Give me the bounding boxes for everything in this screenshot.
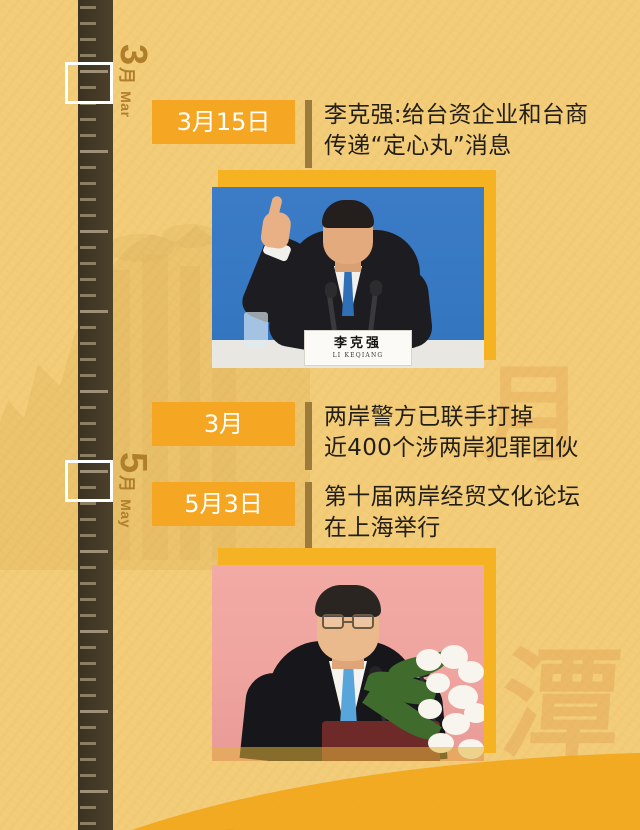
ruler-tick bbox=[80, 406, 96, 409]
ruler-tick bbox=[80, 598, 96, 601]
ruler-tick bbox=[80, 246, 96, 249]
month-label-may: 5 月 May bbox=[115, 452, 150, 528]
timeline-ruler-strip bbox=[78, 0, 113, 830]
yu-zhengsheng-podium-photo[interactable] bbox=[212, 565, 484, 761]
photo-block-1: 李克强 LI KEQIANG bbox=[196, 170, 496, 370]
eyeglass-lens-right bbox=[352, 614, 374, 629]
ruler-tick bbox=[80, 758, 96, 761]
calligraphy-glyph: 潭 bbox=[481, 640, 640, 772]
ruler-tick bbox=[80, 742, 96, 745]
month-en: Mar bbox=[115, 91, 136, 117]
month-cn: 月 bbox=[115, 475, 137, 492]
ruler-tick bbox=[80, 502, 96, 505]
month-label-march: 3 月 Mar bbox=[115, 44, 150, 118]
photo-bottom-band bbox=[212, 747, 484, 761]
ruler-tick bbox=[80, 422, 96, 425]
ruler-tick bbox=[80, 806, 96, 809]
ruler-tick bbox=[80, 326, 96, 329]
ruler-tick bbox=[80, 118, 96, 121]
orchid-bloom bbox=[416, 649, 442, 671]
ruler-tick bbox=[80, 438, 96, 441]
month-number: 5 bbox=[115, 452, 150, 472]
nameplate-chinese: 李克强 bbox=[334, 337, 382, 351]
ruler-tick bbox=[80, 342, 96, 345]
ruler-tick bbox=[80, 310, 108, 313]
water-glass bbox=[244, 312, 268, 348]
ruler-tick bbox=[80, 230, 108, 233]
ruler-tick bbox=[80, 38, 96, 41]
nameplate: 李克强 LI KEQIANG bbox=[304, 330, 412, 366]
nameplate-english: LI KEQIANG bbox=[333, 351, 384, 360]
ruler-tick bbox=[80, 390, 108, 393]
timeline-entry-2: 3月 两岸警方已联手打掉 近400个涉两岸犯罪团伙 bbox=[152, 402, 579, 470]
ruler-tick-marks bbox=[78, 0, 113, 830]
date-badge[interactable]: 3月 bbox=[152, 402, 295, 446]
microphone-head-left bbox=[325, 282, 337, 298]
li-keqiang-press-conference-photo[interactable]: 李克强 LI KEQIANG bbox=[212, 187, 484, 368]
photo-block-2 bbox=[196, 548, 496, 773]
ruler-tick bbox=[80, 166, 96, 169]
hair bbox=[315, 585, 381, 617]
ruler-tick bbox=[80, 790, 108, 793]
ruler-tick bbox=[80, 278, 96, 281]
month-number: 3 bbox=[115, 44, 150, 64]
ruler-tick bbox=[80, 678, 96, 681]
ruler-tick bbox=[80, 294, 96, 297]
entry-divider bbox=[305, 482, 312, 550]
ruler-tick bbox=[80, 518, 96, 521]
orchid-bloom bbox=[458, 661, 484, 683]
ruler-tick bbox=[80, 566, 96, 569]
ruler-tick bbox=[80, 454, 96, 457]
month-cn: 月 bbox=[115, 67, 137, 84]
entry-headline[interactable]: 第十届两岸经贸文化论坛 在上海举行 bbox=[324, 482, 580, 544]
ruler-tick bbox=[80, 710, 108, 713]
ruler-tick bbox=[80, 54, 96, 57]
entry-headline[interactable]: 李克强:给台资企业和台商 传递“定心丸”消息 bbox=[324, 100, 588, 162]
ruler-tick bbox=[80, 214, 96, 217]
ruler-tick bbox=[80, 774, 96, 777]
ruler-tick bbox=[80, 150, 108, 153]
ruler-tick bbox=[80, 22, 96, 25]
timeline-entry-1: 3月15日 李克强:给台资企业和台商 传递“定心丸”消息 bbox=[152, 100, 588, 168]
ruler-tick bbox=[80, 694, 96, 697]
infographic-timeline: 月 潭 3 月 Mar 5 月 May 3月15日 李克强:给台资企业和台商 传… bbox=[0, 0, 640, 830]
ruler-tick bbox=[80, 534, 96, 537]
ruler-tick bbox=[80, 358, 96, 361]
month-en: May bbox=[115, 499, 136, 528]
ruler-tick bbox=[80, 726, 96, 729]
month-marker-march[interactable] bbox=[65, 62, 113, 104]
entry-divider bbox=[305, 402, 312, 470]
ruler-tick bbox=[80, 550, 108, 553]
microphone-head-right bbox=[370, 280, 382, 296]
orchid-flower-arrangement bbox=[362, 645, 484, 761]
ruler-tick bbox=[80, 182, 96, 185]
eyeglass-bridge bbox=[344, 621, 352, 623]
ruler-tick bbox=[80, 582, 96, 585]
ruler-tick bbox=[80, 198, 96, 201]
orchid-bloom bbox=[418, 699, 442, 719]
timeline-entry-3: 5月3日 第十届两岸经贸文化论坛 在上海举行 bbox=[152, 482, 580, 550]
entry-divider bbox=[305, 100, 312, 168]
ruler-tick bbox=[80, 614, 96, 617]
ruler-tick bbox=[80, 6, 96, 9]
date-badge[interactable]: 5月3日 bbox=[152, 482, 295, 526]
ruler-tick bbox=[80, 262, 96, 265]
date-badge[interactable]: 3月15日 bbox=[152, 100, 295, 144]
ruler-tick bbox=[80, 662, 96, 665]
orchid-bloom bbox=[464, 703, 484, 723]
month-marker-may[interactable] bbox=[65, 460, 113, 502]
ruler-tick bbox=[80, 646, 96, 649]
ruler-tick bbox=[80, 630, 108, 633]
ruler-tick bbox=[80, 822, 96, 825]
orchid-bloom bbox=[426, 673, 450, 693]
eyeglass-lens-left bbox=[322, 614, 344, 629]
entry-headline[interactable]: 两岸警方已联手打掉 近400个涉两岸犯罪团伙 bbox=[324, 402, 579, 464]
ruler-tick bbox=[80, 374, 96, 377]
ruler-tick bbox=[80, 134, 96, 137]
